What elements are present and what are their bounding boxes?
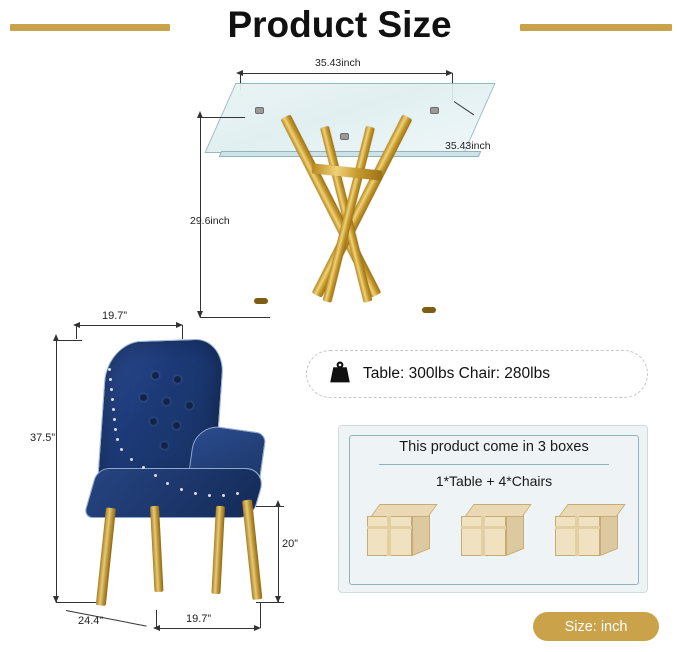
chair-diagram: 19.7” (30, 310, 330, 640)
tuft-button (174, 376, 181, 383)
chair-leg (150, 506, 163, 592)
chair-seat-width-arrow (158, 628, 256, 629)
weight-text: Table: 300lbs Chair: 280lbs (363, 365, 550, 383)
table-width-label: 35.43inch (315, 57, 361, 69)
stud-icon (113, 418, 116, 421)
table-width-arrow (242, 73, 447, 74)
table-height-label: 29.6inch (190, 215, 230, 227)
chair-total-height-label: 37.5” (30, 432, 55, 444)
stud-icon (222, 494, 225, 497)
chair-leg (242, 499, 262, 599)
product-size-infographic: Product Size 35.43inch 35.43inch (0, 0, 679, 652)
size-unit-badge: Size: inch (533, 612, 659, 641)
stud-icon (120, 448, 123, 451)
stud-icon (130, 458, 133, 461)
box-icon (461, 504, 527, 556)
packaging-subtitle: 1*Table + 4*Chairs (339, 473, 649, 489)
tuft-button (161, 442, 168, 449)
page-title: Product Size (0, 2, 679, 48)
table-diagram: 35.43inch 35.43inch 29.6inch (180, 55, 510, 330)
screw-icon (255, 107, 264, 114)
chair-back-width-label: 19.7” (102, 310, 127, 322)
tuft-button (186, 402, 193, 409)
chair-height-arrow (56, 340, 57, 602)
packaging-panel: This product come in 3 boxes 1*Table + 4… (338, 425, 648, 593)
stud-icon (110, 388, 113, 391)
glass-tabletop-edge (219, 151, 482, 157)
stud-icon (166, 482, 169, 485)
table-height-tick-top (200, 117, 245, 118)
stud-icon (108, 368, 111, 371)
stud-icon (194, 492, 197, 495)
chair-seat-width-tick-right (260, 602, 261, 628)
packaging-divider (379, 464, 609, 465)
packaging-title: This product come in 3 boxes (339, 439, 649, 455)
chair-back-width-arrow (78, 325, 178, 326)
chair-leg (211, 506, 225, 594)
stud-icon (236, 492, 239, 495)
chair-seat-width-tick-left (156, 610, 157, 628)
stud-icon (109, 378, 112, 381)
stud-icon (142, 466, 145, 469)
tuft-button (163, 398, 170, 405)
tuft-button (152, 372, 159, 379)
header: Product Size (0, 0, 679, 58)
screw-icon (340, 133, 349, 140)
chair-height-tick-bottom (56, 602, 96, 603)
chair-height-tick-top (56, 340, 82, 341)
chair-seat-height-tick-top (256, 506, 284, 507)
chair-seat-height-arrow (278, 506, 279, 602)
tuft-button (140, 394, 147, 401)
weight-icon (327, 359, 353, 390)
box-icon (367, 504, 433, 556)
box-icon (555, 504, 621, 556)
stud-icon (180, 488, 183, 491)
stud-icon (111, 398, 114, 401)
weight-capacity-callout: Table: 300lbs Chair: 280lbs (306, 350, 648, 398)
chair-leg (96, 507, 116, 606)
chair-back-width-tick-left (76, 325, 77, 339)
stud-icon (114, 428, 117, 431)
chair-seat-height-label: 20” (282, 538, 298, 550)
chair-seat-width-label: 19.7” (186, 613, 211, 625)
stud-icon (154, 474, 157, 477)
stud-icon (208, 494, 211, 497)
stud-icon (116, 438, 119, 441)
table-foot (422, 307, 436, 313)
tuft-button (150, 418, 157, 425)
table-depth-label: 35.43inch (445, 140, 491, 152)
chair-depth-label: 24.4” (78, 615, 103, 627)
table-foot (254, 298, 268, 304)
chair-back-width-tick-right (182, 325, 183, 339)
tuft-button (173, 422, 180, 429)
screw-icon (430, 107, 439, 114)
stud-icon (112, 408, 115, 411)
